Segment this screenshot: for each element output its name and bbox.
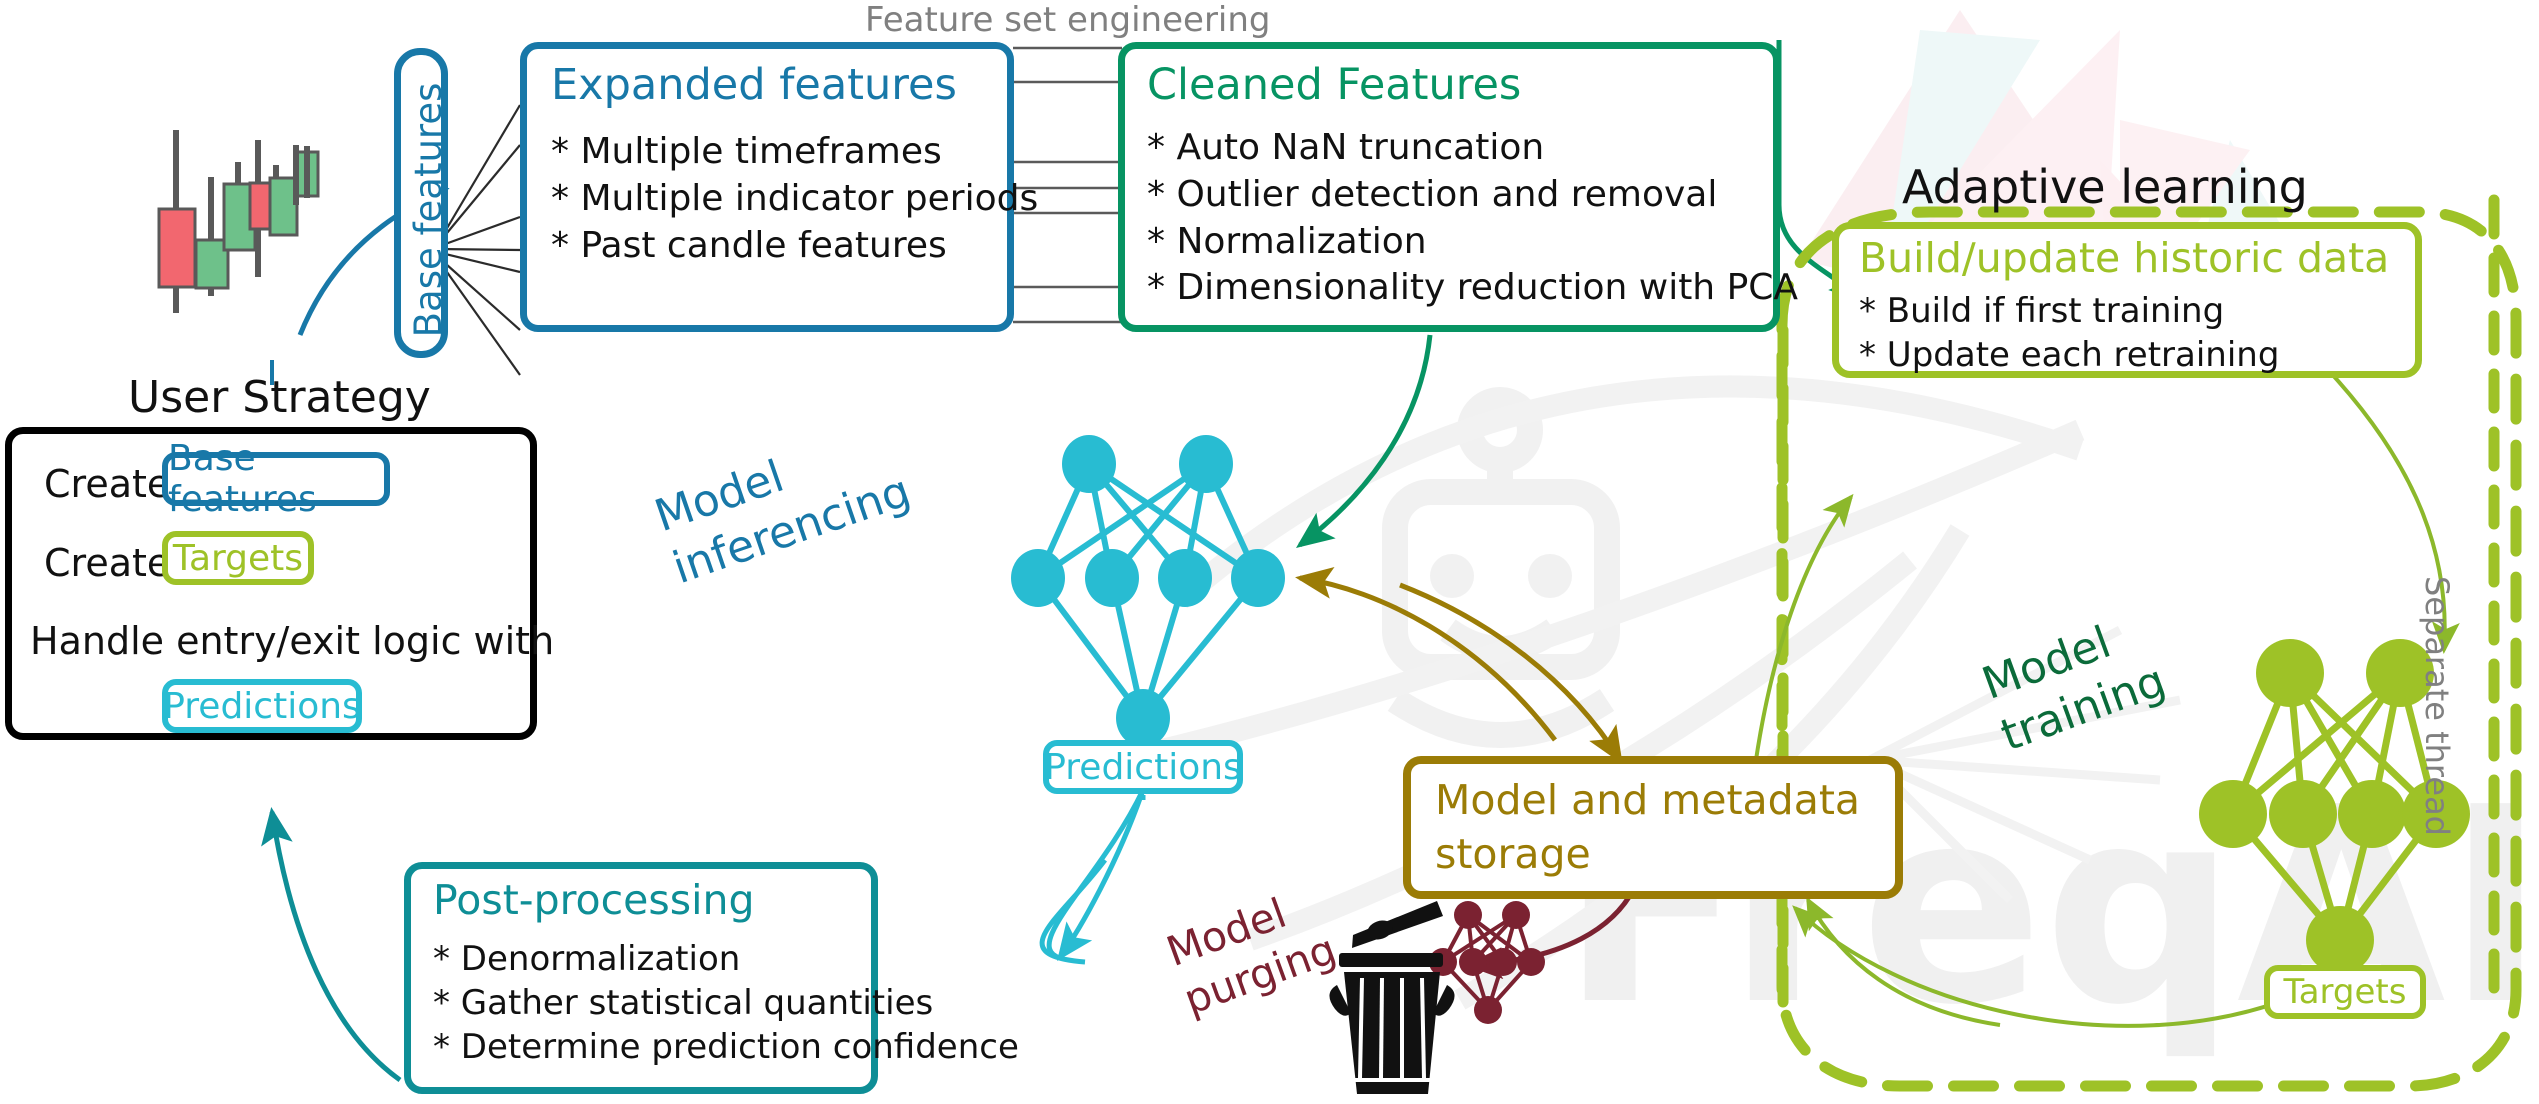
predictions-pill-label: Predictions: [163, 686, 361, 727]
user-strategy-box[interactable]: Create Base features Create Targets Hand…: [5, 427, 537, 740]
storage-title-line2: storage: [1435, 830, 1591, 878]
build-update-historic-data-box[interactable]: Build/update historic data * Build if fi…: [1832, 222, 2422, 378]
model-inferencing-label: Model inferencing: [648, 401, 949, 596]
diagram-canvas: FreqAI: [0, 0, 2539, 1104]
expanded-features-title: Expanded features: [551, 63, 957, 108]
feature-set-engineering-label: Feature set engineering: [865, 0, 1271, 40]
bullet-item: * Normalization: [1147, 219, 1798, 266]
post-processing-bullets: * Denormalization * Gather statistical q…: [433, 937, 1019, 1070]
model-metadata-storage-box[interactable]: Model and metadata storage: [1403, 756, 1903, 899]
cleaned-features-bullets: * Auto NaN truncation * Outlier detectio…: [1147, 125, 1798, 312]
arrow-predictions-to-postprocessing: [1060, 790, 1143, 957]
base-features-box[interactable]: Base features: [394, 48, 448, 358]
bullet-item: * Dimensionality reduction with PCA: [1147, 265, 1798, 312]
bullet-item: * Gather statistical quantities: [433, 981, 1019, 1025]
model-purging-label: Model purging: [1160, 851, 1411, 1026]
line-predictions-to-postprocessing: [1049, 790, 1143, 958]
model-training-label: Model training: [1975, 574, 2248, 763]
robot-watermark: [1395, 400, 1607, 735]
bullet-item: * Multiple timeframes: [551, 129, 1038, 176]
arrow-postprocessing-to-strategy: [272, 812, 400, 1080]
bullet-item: * Past candle features: [551, 223, 1038, 270]
expanded-features-bullets: * Multiple timeframes * Multiple indicat…: [551, 129, 1038, 269]
user-strategy-title: User Strategy: [128, 372, 431, 423]
bullet-item: * Outlier detection and removal: [1147, 172, 1798, 219]
targets-pill-strategy[interactable]: Targets: [162, 531, 314, 585]
adaptive-learning-label: Adaptive learning: [1902, 160, 2308, 214]
base-features-label: Base features: [401, 55, 455, 365]
predictions-pill-output[interactable]: Predictions: [1043, 740, 1243, 794]
expanded-features-box[interactable]: Expanded features * Multiple timeframes …: [520, 42, 1014, 332]
targets-pill-training[interactable]: Targets: [2264, 965, 2426, 1019]
bullet-item: * Denormalization: [433, 937, 1019, 981]
post-processing-title: Post-processing: [433, 879, 755, 922]
build-update-title: Build/update historic data: [1859, 237, 2389, 280]
predictions-pill-strategy[interactable]: Predictions: [162, 679, 362, 733]
strategy-line-1: Create: [44, 462, 170, 506]
arrow-cleaned-to-inference: [1300, 335, 1430, 545]
predictions-output-label: Predictions: [1044, 747, 1242, 788]
bullet-item: * Update each retraining: [1859, 333, 2279, 377]
base-features-pill[interactable]: Base features: [162, 452, 390, 506]
arrow-into-storage-bottom: [1808, 900, 2000, 1025]
bullet-item: * Auto NaN truncation: [1147, 125, 1798, 172]
arrow-storage-to-inference: [1300, 578, 1555, 740]
targets-training-label: Targets: [2284, 972, 2407, 1012]
bullet-item: * Build if first training: [1859, 289, 2279, 333]
arrow-training-to-storage: [1795, 908, 2285, 1026]
strategy-line-3: Handle entry/exit logic with: [30, 619, 554, 663]
base-features-pill-label: Base features: [168, 438, 384, 520]
bullet-item: * Determine prediction confidence: [433, 1025, 1019, 1069]
cleaned-features-box[interactable]: Cleaned Features * Auto NaN truncation *…: [1118, 42, 1780, 332]
bullet-item: * Multiple indicator periods: [551, 176, 1038, 223]
targets-pill-label: Targets: [173, 538, 303, 579]
post-processing-box[interactable]: Post-processing * Denormalization * Gath…: [404, 862, 878, 1094]
storage-title-line1: Model and metadata: [1435, 776, 1860, 824]
line-predictions-curve: [1042, 860, 1105, 962]
strategy-line-2: Create: [44, 541, 170, 585]
build-update-bullets: * Build if first training * Update each …: [1859, 289, 2279, 377]
arrow-inference-to-storage: [1400, 585, 1620, 760]
cleaned-features-title: Cleaned Features: [1147, 63, 1521, 108]
separate-thread-label: Separate thread: [2416, 576, 2456, 876]
